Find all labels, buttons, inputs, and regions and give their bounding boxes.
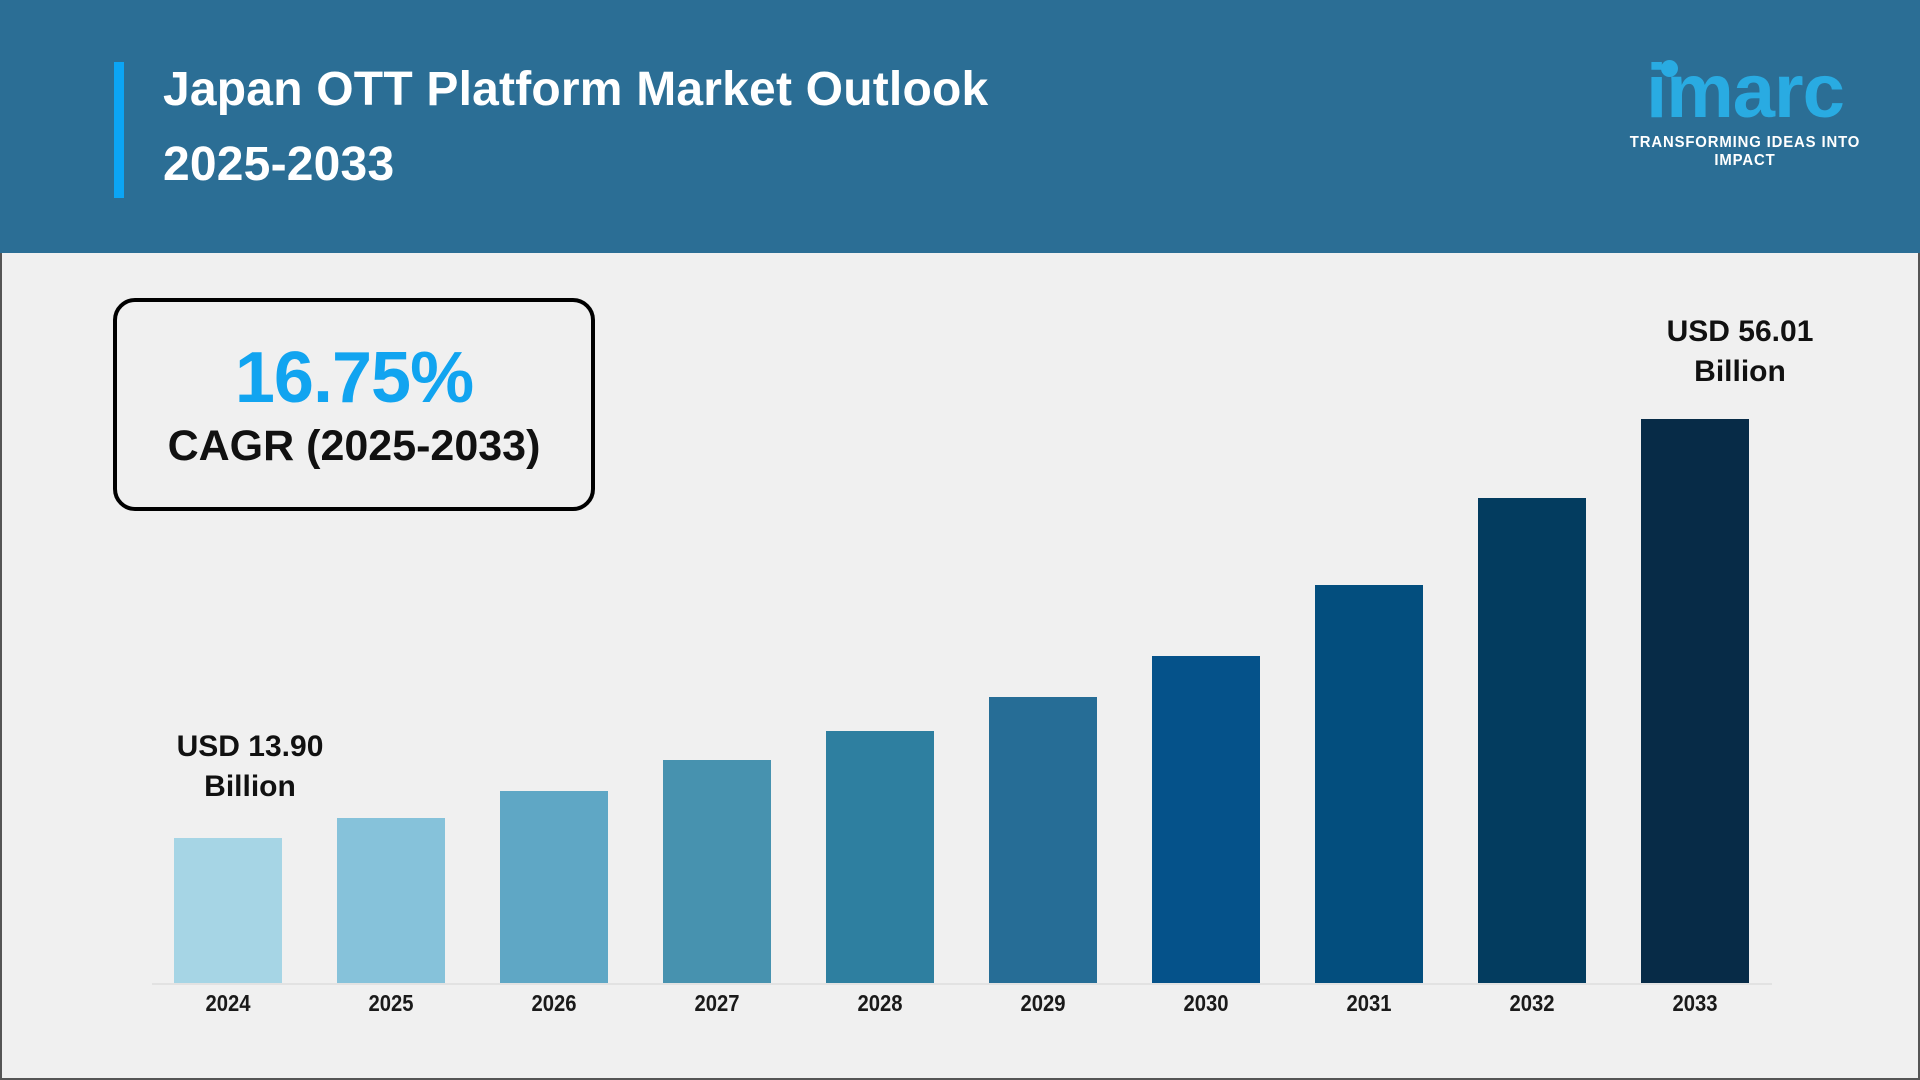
title-accent-bar: [114, 62, 124, 198]
logo-wordmark: imarc: [1610, 52, 1880, 132]
logo-dot-icon: [1661, 60, 1678, 77]
imarc-logo: imarc TRANSFORMING IDEAS INTO IMPACT: [1610, 52, 1880, 177]
header-banner: Japan OTT Platform Market Outlook 2025-2…: [0, 0, 1920, 253]
cagr-label: CAGR (2025-2033): [168, 420, 541, 472]
cagr-box: 16.75% CAGR (2025-2033): [113, 298, 595, 511]
cagr-value: 16.75%: [235, 338, 473, 418]
logo-wordmark-text: imarc: [1646, 49, 1844, 134]
page-title: Japan OTT Platform Market Outlook 2025-2…: [163, 52, 1413, 202]
infographic-root: Japan OTT Platform Market Outlook 2025-2…: [0, 0, 1920, 1080]
logo-tagline: TRANSFORMING IDEAS INTO IMPACT: [1615, 134, 1874, 170]
end-value-callout: USD 56.01 Billion: [1595, 312, 1885, 392]
start-value-callout: USD 13.90 Billion: [115, 727, 385, 807]
